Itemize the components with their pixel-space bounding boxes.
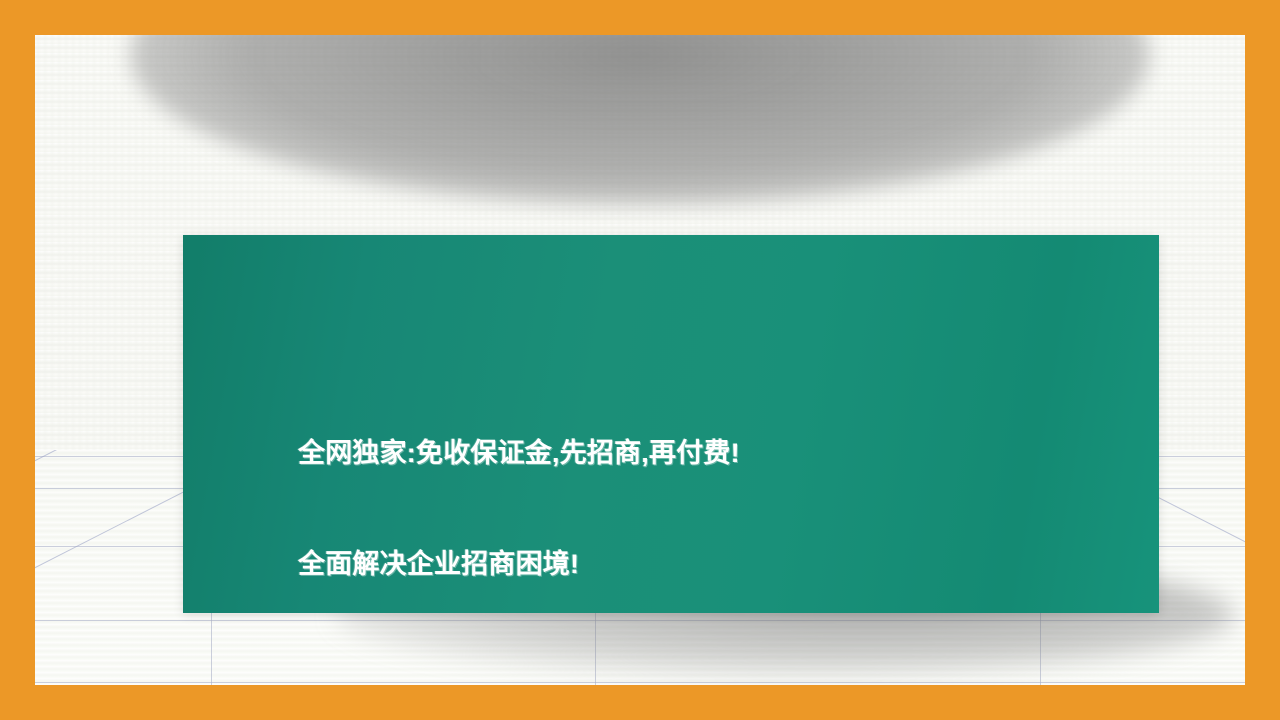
frame-border-left (0, 0, 35, 720)
message-panel: 全网独家:免收保证金,先招商,再付费! 全面解决企业招商困境! 合作即签订保障协… (183, 235, 1159, 613)
room-stage: 全网独家:免收保证金,先招商,再付费! 全面解决企业招商困境! 合作即签订保障协… (35, 35, 1245, 685)
slide-root: 全网独家:免收保证金,先招商,再付费! 全面解决企业招商困境! 合作即签订保障协… (0, 0, 1280, 720)
floor-diagonal-line (35, 450, 76, 604)
message-panel-text: 全网独家:免收保证金,先招商,再付费! 全面解决企业招商困境! 合作即签订保障协… (298, 250, 1139, 685)
headline-line-2: 全面解决企业招商困境! (298, 546, 1139, 583)
frame-border-bottom (0, 685, 1280, 720)
headline-line-1: 全网独家:免收保证金,先招商,再付费! (298, 435, 1139, 472)
frame-border-top (0, 0, 1280, 35)
paragraph-headline: 全网独家:免收保证金,先招商,再付费! 全面解决企业招商困境! (298, 361, 1139, 657)
floor-diagonal-line (1225, 450, 1245, 604)
frame-border-right (1245, 0, 1280, 720)
